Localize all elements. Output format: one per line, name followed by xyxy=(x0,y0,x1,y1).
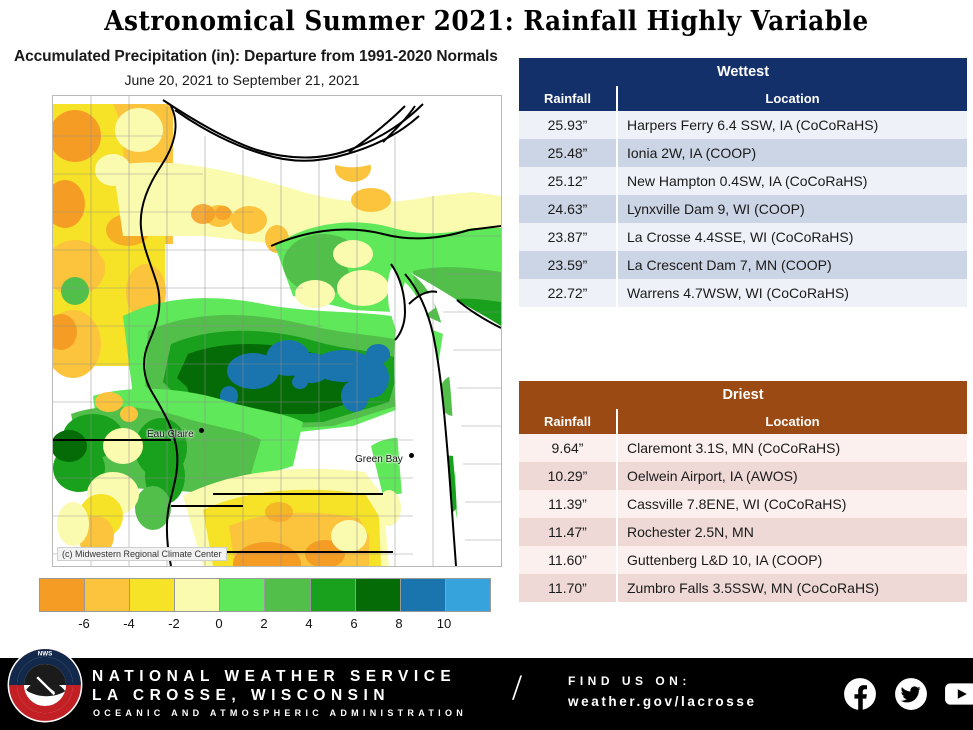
city-label-green-bay: Green Bay xyxy=(355,454,403,465)
column-header-location: Location xyxy=(616,409,967,434)
colorbar-tick-8: 8 xyxy=(395,616,402,631)
wettest-table-title: Wettest xyxy=(519,58,967,86)
youtube-icon[interactable] xyxy=(944,677,973,711)
driest-rainfall-value: 11.70” xyxy=(519,574,616,602)
colorbar-swatch-6 xyxy=(311,579,356,611)
driest-table-title: Driest xyxy=(519,381,967,409)
colorbar-swatch-7 xyxy=(356,579,401,611)
twitter-icon[interactable] xyxy=(894,677,928,711)
colorbar-tick--2: -2 xyxy=(168,616,180,631)
colorbar-swatch-9 xyxy=(446,579,490,611)
colorbar-tick-4: 4 xyxy=(305,616,312,631)
colorbar-swatch-5 xyxy=(265,579,310,611)
wettest-location-value: Lynxville Dam 9, WI (COOP) xyxy=(616,195,967,223)
column-header-rainfall: Rainfall xyxy=(519,86,616,111)
nws-logo-icon: NWS xyxy=(6,646,84,724)
find-us-label: FIND US ON: xyxy=(568,674,691,688)
colorbar-legend: -6-4-20246810 xyxy=(39,578,499,636)
table-row: 23.59”La Crescent Dam 7, MN (COOP) xyxy=(519,251,967,279)
agency-subtitle-line3: OCEANIC AND ATMOSPHERIC ADMINISTRATION xyxy=(93,708,467,718)
colorbar-swatch-4 xyxy=(220,579,265,611)
footer-separator: / xyxy=(512,666,522,708)
wettest-location-value: New Hampton 0.4SW, IA (CoCoRaHS) xyxy=(616,167,967,195)
colorbar-swatch-0 xyxy=(40,579,85,611)
driest-rainfall-value: 10.29” xyxy=(519,462,616,490)
svg-text:NWS: NWS xyxy=(38,650,53,657)
wettest-rainfall-value: 25.12” xyxy=(519,167,616,195)
table-row: 23.87”La Crosse 4.4SSE, WI (CoCoRaHS) xyxy=(519,223,967,251)
driest-rainfall-value: 11.60” xyxy=(519,546,616,574)
colorbar-tick--4: -4 xyxy=(123,616,135,631)
table-row: 10.29”Oelwein Airport, IA (AWOS) xyxy=(519,462,967,490)
footer-banner: NWS NATIONAL WEATHER SERVICE LA CROSSE, … xyxy=(0,658,973,730)
website-url[interactable]: weather.gov/lacrosse xyxy=(568,694,757,709)
table-row: 25.48”Ionia 2W, IA (COOP) xyxy=(519,139,967,167)
driest-location-value: Claremont 3.1S, MN (CoCoRaHS) xyxy=(616,434,967,462)
driest-rainfall-value: 9.64” xyxy=(519,434,616,462)
table-row: 11.70”Zumbro Falls 3.5SSW, MN (CoCoRaHS) xyxy=(519,574,967,602)
wettest-location-value: Harpers Ferry 6.4 SSW, IA (CoCoRaHS) xyxy=(616,111,967,139)
wettest-table-header: Rainfall Location xyxy=(519,86,967,111)
table-row: 11.39”Cassville 7.8ENE, WI (CoCoRaHS) xyxy=(519,490,967,518)
wettest-location-value: La Crosse 4.4SSE, WI (CoCoRaHS) xyxy=(616,223,967,251)
city-dot-eau-claire xyxy=(199,428,204,433)
colorbar-swatch-3 xyxy=(175,579,220,611)
colorbar-tick-6: 6 xyxy=(350,616,357,631)
colorbar-tick-2: 2 xyxy=(260,616,267,631)
driest-location-value: Cassville 7.8ENE, WI (CoCoRaHS) xyxy=(616,490,967,518)
driest-table: Driest Rainfall Location 9.64”Claremont … xyxy=(519,381,967,602)
wettest-table-body: 25.93”Harpers Ferry 6.4 SSW, IA (CoCoRaH… xyxy=(519,111,967,307)
table-row: 22.72”Warrens 4.7WSW, WI (CoCoRaHS) xyxy=(519,279,967,307)
colorbar-swatch-8 xyxy=(401,579,446,611)
wettest-location-value: Ionia 2W, IA (COOP) xyxy=(616,139,967,167)
driest-location-value: Zumbro Falls 3.5SSW, MN (CoCoRaHS) xyxy=(616,574,967,602)
colorbar-ticks: -6-4-20246810 xyxy=(39,616,489,636)
driest-table-header: Rainfall Location xyxy=(519,409,967,434)
map-heading: Accumulated Precipitation (in): Departur… xyxy=(6,48,514,66)
wettest-rainfall-value: 23.87” xyxy=(519,223,616,251)
page-title: Astronomical Summer 2021: Rainfall Highl… xyxy=(39,6,934,37)
column-header-location: Location xyxy=(616,86,967,111)
column-header-rainfall: Rainfall xyxy=(519,409,616,434)
driest-rainfall-value: 11.39” xyxy=(519,490,616,518)
wettest-table: Wettest Rainfall Location 25.93”Harpers … xyxy=(519,58,967,307)
map-panel: Accumulated Precipitation (in): Departur… xyxy=(6,48,514,648)
colorbar-tick--6: -6 xyxy=(78,616,90,631)
colorbar-swatch-1 xyxy=(85,579,130,611)
colorbar-swatches xyxy=(39,578,491,612)
table-row: 25.93”Harpers Ferry 6.4 SSW, IA (CoCoRaH… xyxy=(519,111,967,139)
colorbar-tick-0: 0 xyxy=(215,616,222,631)
wettest-rainfall-value: 25.48” xyxy=(519,139,616,167)
wettest-rainfall-value: 25.93” xyxy=(519,111,616,139)
driest-location-value: Guttenberg L&D 10, IA (COOP) xyxy=(616,546,967,574)
table-row: 11.60”Guttenberg L&D 10, IA (COOP) xyxy=(519,546,967,574)
table-row: 24.63”Lynxville Dam 9, WI (COOP) xyxy=(519,195,967,223)
facebook-icon[interactable] xyxy=(843,677,877,711)
map-graphic xyxy=(53,96,501,566)
table-row: 9.64”Claremont 3.1S, MN (CoCoRaHS) xyxy=(519,434,967,462)
table-row: 11.47”Rochester 2.5N, MN xyxy=(519,518,967,546)
agency-name-line1: NATIONAL WEATHER SERVICE xyxy=(92,668,456,686)
driest-location-value: Rochester 2.5N, MN xyxy=(616,518,967,546)
driest-table-body: 9.64”Claremont 3.1S, MN (CoCoRaHS)10.29”… xyxy=(519,434,967,602)
city-label-eau-claire: Eau Claire xyxy=(147,429,194,440)
map-subheading: June 20, 2021 to September 21, 2021 xyxy=(6,72,514,88)
table-row: 25.12”New Hampton 0.4SW, IA (CoCoRaHS) xyxy=(519,167,967,195)
agency-office-line2: LA CROSSE, WISCONSIN xyxy=(92,687,390,705)
driest-rainfall-value: 11.47” xyxy=(519,518,616,546)
wettest-rainfall-value: 23.59” xyxy=(519,251,616,279)
driest-location-value: Oelwein Airport, IA (AWOS) xyxy=(616,462,967,490)
colorbar-tick-10: 10 xyxy=(437,616,451,631)
colorbar-swatch-2 xyxy=(130,579,175,611)
precipitation-departure-map: Eau Claire Green Bay Madison Milwaukee (… xyxy=(52,95,502,567)
wettest-rainfall-value: 22.72” xyxy=(519,279,616,307)
wettest-rainfall-value: 24.63” xyxy=(519,195,616,223)
map-credit: (c) Midwestern Regional Climate Center xyxy=(57,547,227,561)
wettest-location-value: La Crescent Dam 7, MN (COOP) xyxy=(616,251,967,279)
wettest-location-value: Warrens 4.7WSW, WI (CoCoRaHS) xyxy=(616,279,967,307)
city-dot-green-bay xyxy=(409,453,414,458)
